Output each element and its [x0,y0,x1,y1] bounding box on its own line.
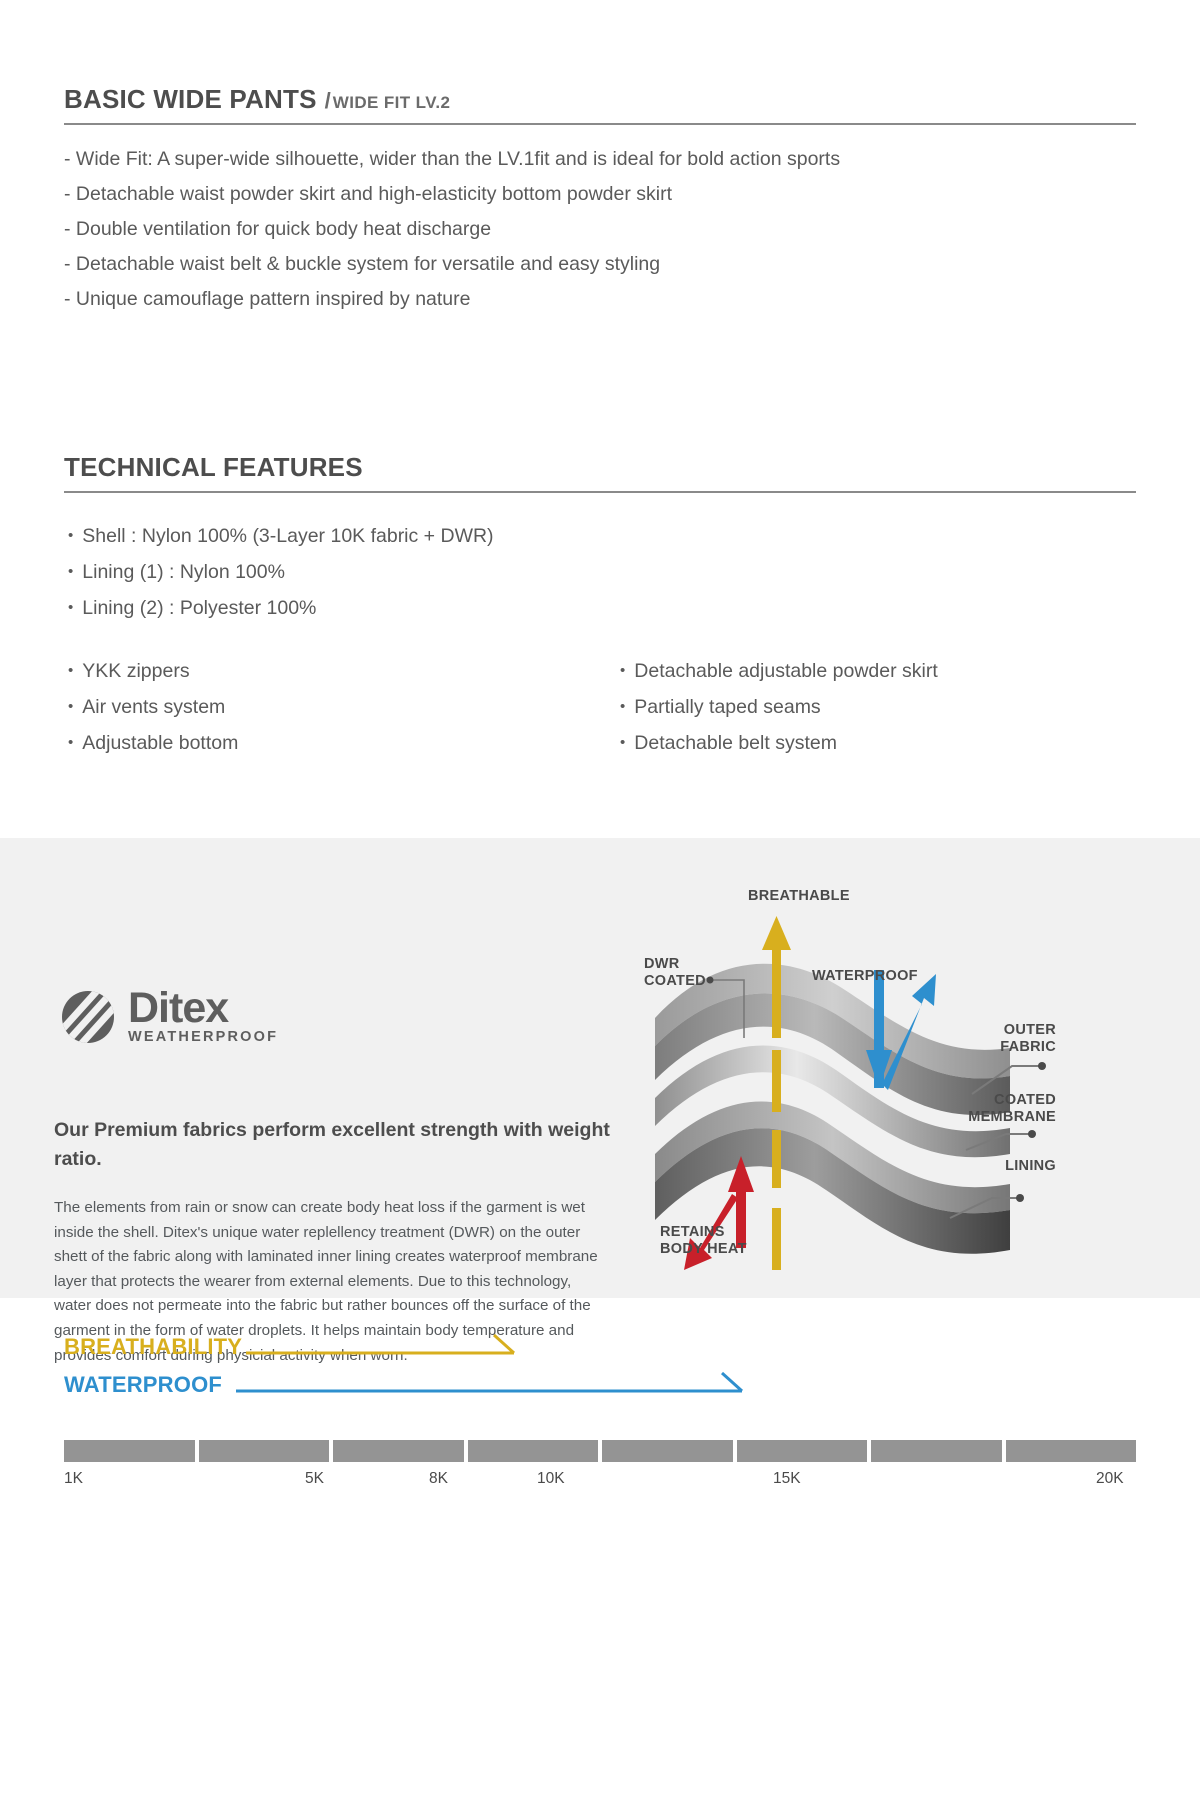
list-item: •Air vents system [68,689,538,725]
list-item: •Detachable belt system [620,725,1090,761]
tick-label: 15K [773,1470,801,1488]
ditex-logo-icon [62,991,114,1043]
list-item-label: YKK zippers [82,660,189,682]
material-list: •Shell : Nylon 100% (3-Layer 10K fabric … [68,518,768,626]
coated-membrane-line-2: MEMBRANE [968,1109,1056,1125]
product-spec-page: BASIC WIDE PANTS/WIDE FIT LV.2 - Wide Fi… [0,0,1200,1800]
rating-scale-ticks: 1K 5K 8K 10K 15K 20K [64,1470,1136,1492]
tick-label: 8K [429,1470,448,1488]
waterproof-arrow-icon [236,1372,796,1398]
ditex-logo-text: Ditex WEATHERPROOF [128,988,278,1045]
list-item: •Lining (2) : Polyester 100% [68,590,768,626]
fabric-layer-diagram: BREATHABLE DWR COATED WATERPROOF OUTER F… [620,898,1180,1298]
page-title: BASIC WIDE PANTS [64,84,317,114]
list-item: - Wide Fit: A super-wide silhouette, wid… [64,142,1064,177]
diagram-label-breathable: BREATHABLE [748,888,850,905]
bullet-icon: • [620,698,625,715]
list-item: •Adjustable bottom [68,725,538,761]
list-item: •YKK zippers [68,653,538,689]
bullet-icon: • [68,734,73,751]
bullet-icon: • [68,599,73,616]
diagram-label-coated-membrane: COATED MEMBRANE [906,1092,1056,1126]
technical-features-header: TECHNICAL FEATURES [64,452,1136,493]
ditex-logo: Ditex WEATHERPROOF [62,988,278,1045]
bar-segment [64,1440,195,1462]
ditex-lead-text: Our Premium fabrics perform excellent st… [54,1116,614,1174]
list-item-label: Lining (2) : Polyester 100% [82,597,316,619]
tick-label: 5K [305,1470,324,1488]
bar-segment [871,1440,1002,1462]
callout-dots [1016,1062,1046,1202]
outer-fabric-line-1: OUTER [1004,1022,1056,1038]
list-item: •Shell : Nylon 100% (3-Layer 10K fabric … [68,518,768,554]
feature-list-right: •Detachable adjustable powder skirt •Par… [620,653,1090,761]
bullet-icon: • [68,662,73,679]
list-item: - Double ventilation for quick body heat… [64,212,1064,247]
rating-scale-chart: BREATHABILITY WATERPROOF 1K 5 [0,1330,1200,1530]
diagram-label-lining: LINING [916,1158,1056,1175]
outer-fabric-line-2: FABRIC [1000,1039,1056,1055]
dwr-leader-dot [707,977,714,984]
bullet-icon: • [620,662,625,679]
bar-segment [737,1440,868,1462]
product-feature-list: - Wide Fit: A super-wide silhouette, wid… [64,142,1064,317]
diagram-label-waterproof: WATERPROOF [812,968,918,985]
rating-scale-bar [64,1440,1136,1462]
tick-label: 20K [1096,1470,1124,1488]
retains-line-2: BODY HEAT [660,1241,747,1257]
title-separator: / [325,88,331,113]
list-item: •Detachable adjustable powder skirt [620,653,1090,689]
feature-list-left: •YKK zippers •Air vents system •Adjustab… [68,653,538,761]
list-item: •Partially taped seams [620,689,1090,725]
list-item-label: Detachable belt system [634,732,837,754]
section-title: TECHNICAL FEATURES [64,452,363,482]
product-title-header: BASIC WIDE PANTS/WIDE FIT LV.2 [64,84,1136,125]
tick-label: 10K [537,1470,565,1488]
bar-segment [1006,1440,1137,1462]
waterproof-row: WATERPROOF [64,1372,796,1398]
bar-segment [333,1440,464,1462]
list-item: - Detachable waist powder skirt and high… [64,177,1064,212]
ditex-panel: Ditex WEATHERPROOF Our Premium fabrics p… [0,838,1200,1298]
bar-segment [468,1440,599,1462]
coated-membrane-line-1: COATED [994,1092,1056,1108]
dwr-line-2: COATED [644,973,706,989]
diagram-label-dwr-coated: DWR COATED [644,956,706,990]
bullet-icon: • [68,698,73,715]
list-item-label: Lining (1) : Nylon 100% [82,561,285,583]
bar-segment [602,1440,733,1462]
breathability-row: BREATHABILITY [64,1334,566,1360]
dwr-line-1: DWR [644,956,680,972]
bar-segment [199,1440,330,1462]
waterproof-label: WATERPROOF [64,1372,222,1398]
list-item: - Unique camouflage pattern inspired by … [64,282,1064,317]
brand-name: Ditex [128,988,278,1028]
list-item-label: Detachable adjustable powder skirt [634,660,938,682]
brand-tagline: WEATHERPROOF [128,1029,278,1045]
bullet-icon: • [68,527,73,544]
breathability-arrow-icon [246,1334,566,1360]
product-subtitle: WIDE FIT LV.2 [333,93,451,112]
list-item: •Lining (1) : Nylon 100% [68,554,768,590]
diagram-label-outer-fabric: OUTER FABRIC [916,1022,1056,1056]
diagram-label-retains-body-heat: RETAINS BODY HEAT [660,1224,747,1258]
breathability-label: BREATHABILITY [64,1334,242,1360]
list-item-label: Air vents system [82,696,225,718]
bullet-icon: • [68,563,73,580]
retains-line-1: RETAINS [660,1224,725,1240]
tick-label: 1K [64,1470,83,1488]
list-item-label: Adjustable bottom [82,732,238,754]
list-item: - Detachable waist belt & buckle system … [64,247,1064,282]
bullet-icon: • [620,734,625,751]
list-item-label: Partially taped seams [634,696,820,718]
list-item-label: Shell : Nylon 100% (3-Layer 10K fabric +… [82,525,493,547]
